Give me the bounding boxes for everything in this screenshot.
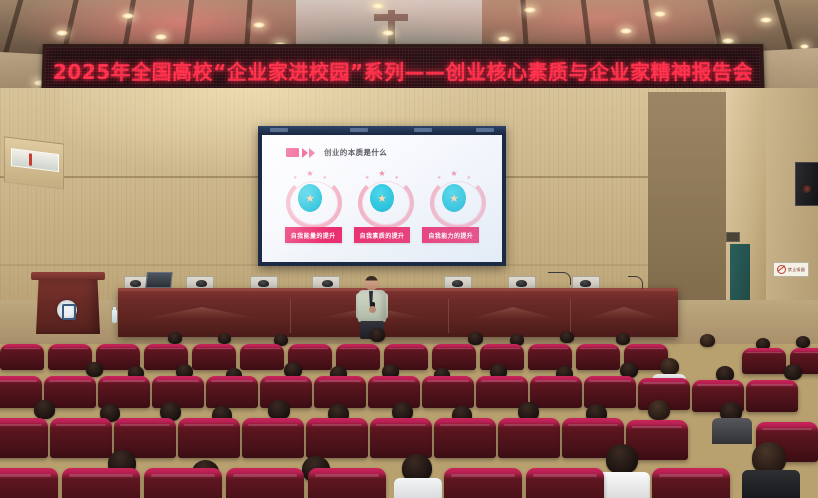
auditorium-seat[interactable] xyxy=(306,418,368,458)
audience-shirt xyxy=(712,418,752,444)
screen-top-rail xyxy=(258,126,506,135)
arrow-bullet-icon xyxy=(286,148,299,157)
auditorium-seat[interactable] xyxy=(368,376,420,408)
desk-microphone xyxy=(258,280,269,287)
slide-title-text: 创业的本质是什么 xyxy=(324,147,387,158)
wall-outlet xyxy=(726,232,740,242)
auditorium-seat[interactable] xyxy=(476,376,528,408)
ceiling-downlight xyxy=(524,7,536,13)
slide-labels: 自我能量的提升 自我素质的提升 自我能力的提升 xyxy=(262,227,502,243)
auditorium-seat[interactable] xyxy=(498,418,560,458)
auditorium-seat[interactable] xyxy=(152,376,204,408)
badge-circle: ★ xyxy=(298,184,322,212)
desk-microphone xyxy=(322,280,333,287)
audience-shirt xyxy=(742,470,800,498)
star-icon: ★ xyxy=(365,175,369,181)
auditorium-seat[interactable] xyxy=(178,418,240,458)
audience-head xyxy=(560,331,574,343)
slide-label: 自我能量的提升 xyxy=(285,227,342,243)
auditorium-seat[interactable] xyxy=(226,468,304,498)
star-icon: ★ xyxy=(449,193,459,204)
wall-vent-box-left xyxy=(4,136,64,189)
auditorium-seat[interactable] xyxy=(0,344,44,370)
ceiling-downlight xyxy=(800,44,809,49)
desk-microphone xyxy=(580,280,591,287)
projection-screen-frame: 创业的本质是什么 ★ ★ ★ ★ ★ ★ ★ ★ ★ xyxy=(258,126,506,266)
auditorium-seat[interactable] xyxy=(0,468,58,498)
auditorium-seat[interactable] xyxy=(370,418,432,458)
audience-head xyxy=(168,332,182,344)
slide-badge: ★ ★ ★ ★ xyxy=(357,171,407,223)
no-smoking-sign-text: 禁止吸烟 xyxy=(788,267,805,273)
auditorium-seat[interactable] xyxy=(746,380,798,412)
auditorium-seat[interactable] xyxy=(530,376,582,408)
ceiling-downlight xyxy=(253,22,265,28)
ceiling-downlight xyxy=(498,36,510,42)
ceiling-downlight xyxy=(155,34,167,40)
star-icon: ★ xyxy=(377,193,387,204)
audience-head xyxy=(700,334,715,347)
lectern-top xyxy=(31,272,105,280)
chevron-right-icon xyxy=(309,148,315,158)
slide-title: 创业的本质是什么 xyxy=(286,147,387,158)
audience-head xyxy=(34,400,55,419)
auditorium-scene: 2025年全国高校“企业家进校园”系列——创业核心素质与企业家精神报告会 禁止吸… xyxy=(0,0,818,498)
led-banner-text: 2025年全国高校“企业家进校园”系列——创业核心素质与企业家精神报告会 xyxy=(44,47,761,93)
audience-head xyxy=(86,362,103,377)
auditorium-seat[interactable] xyxy=(206,376,258,408)
laptop-icon xyxy=(145,272,173,288)
badge-circle: ★ xyxy=(442,184,466,212)
audience-head xyxy=(784,364,802,380)
screen-rail-tab xyxy=(476,128,494,132)
badge-circle: ★ xyxy=(370,184,394,212)
institution-emblem-icon xyxy=(57,300,77,320)
slide-badge: ★ ★ ★ ★ xyxy=(429,171,479,223)
audience-seating xyxy=(0,318,818,498)
desk-microphone xyxy=(452,280,463,287)
auditorium-seat[interactable] xyxy=(240,344,284,370)
no-smoking-icon xyxy=(777,265,786,274)
wall-panel-far-right xyxy=(766,88,818,330)
auditorium-seat[interactable] xyxy=(434,418,496,458)
presentation-slide: 创业的本质是什么 ★ ★ ★ ★ ★ ★ ★ ★ ★ xyxy=(262,135,502,262)
auditorium-seat[interactable] xyxy=(62,468,140,498)
star-icon: ★ xyxy=(293,175,297,181)
audience-head xyxy=(468,332,483,345)
audience-shirt xyxy=(394,478,442,498)
auditorium-seat[interactable] xyxy=(526,468,604,498)
ceiling-downlight xyxy=(372,3,384,9)
star-icon: ★ xyxy=(437,175,441,181)
auditorium-seat[interactable] xyxy=(50,418,112,458)
ceiling-downlight xyxy=(620,28,632,34)
screen-rail-tab xyxy=(270,128,288,132)
auditorium-seat[interactable] xyxy=(742,348,786,374)
auditorium-seat[interactable] xyxy=(432,344,476,370)
audience-shirt xyxy=(596,472,650,498)
ceiling-downlight xyxy=(56,30,68,36)
auditorium-seat[interactable] xyxy=(192,344,236,370)
auditorium-seat[interactable] xyxy=(576,344,620,370)
gooseneck-mic-arm xyxy=(548,272,571,285)
screen-rail-tab xyxy=(414,128,432,132)
slide-label: 自我素质的提升 xyxy=(354,227,411,243)
desk-microphone xyxy=(130,280,141,287)
screen-rail-tab xyxy=(350,128,368,132)
chevron-right-icon xyxy=(302,148,308,158)
auditorium-seat[interactable] xyxy=(98,376,150,408)
ceiling-downlight xyxy=(722,38,734,44)
auditorium-seat[interactable] xyxy=(444,468,522,498)
auditorium-seat[interactable] xyxy=(144,468,222,498)
desk-microphone xyxy=(196,280,207,287)
slide-badge: ★ ★ ★ ★ xyxy=(285,171,335,223)
audience-head xyxy=(268,400,290,420)
ceiling-downlight xyxy=(122,13,134,19)
audience-head xyxy=(660,358,679,375)
ceiling-downlight xyxy=(382,30,394,36)
auditorium-seat[interactable] xyxy=(48,344,92,370)
audience-head xyxy=(616,333,630,345)
audience-head xyxy=(606,444,638,474)
auditorium-seat[interactable] xyxy=(308,468,386,498)
auditorium-seat[interactable] xyxy=(422,376,474,408)
ceiling-downlight xyxy=(654,11,666,17)
audience-head xyxy=(648,400,670,420)
auditorium-seat[interactable] xyxy=(0,418,48,458)
auditorium-seat[interactable] xyxy=(652,468,730,498)
ceiling-downlight xyxy=(760,17,772,23)
vent-grille-icon xyxy=(11,148,59,172)
audience-head xyxy=(218,333,231,344)
auditorium-seat[interactable] xyxy=(584,376,636,408)
audience-head xyxy=(796,336,810,348)
slide-label: 自我能力的提升 xyxy=(422,227,479,243)
audience-head xyxy=(370,328,385,342)
no-smoking-sign: 禁止吸烟 xyxy=(773,262,809,277)
slide-badges: ★ ★ ★ ★ ★ ★ ★ ★ ★ ★ ★ xyxy=(262,171,502,223)
desk-microphone xyxy=(516,280,527,287)
wall-speaker-icon xyxy=(795,162,818,206)
auditorium-seat[interactable] xyxy=(242,418,304,458)
star-icon: ★ xyxy=(305,193,315,204)
gooseneck-mic-arm xyxy=(628,276,643,289)
presenter-hand xyxy=(369,306,376,313)
